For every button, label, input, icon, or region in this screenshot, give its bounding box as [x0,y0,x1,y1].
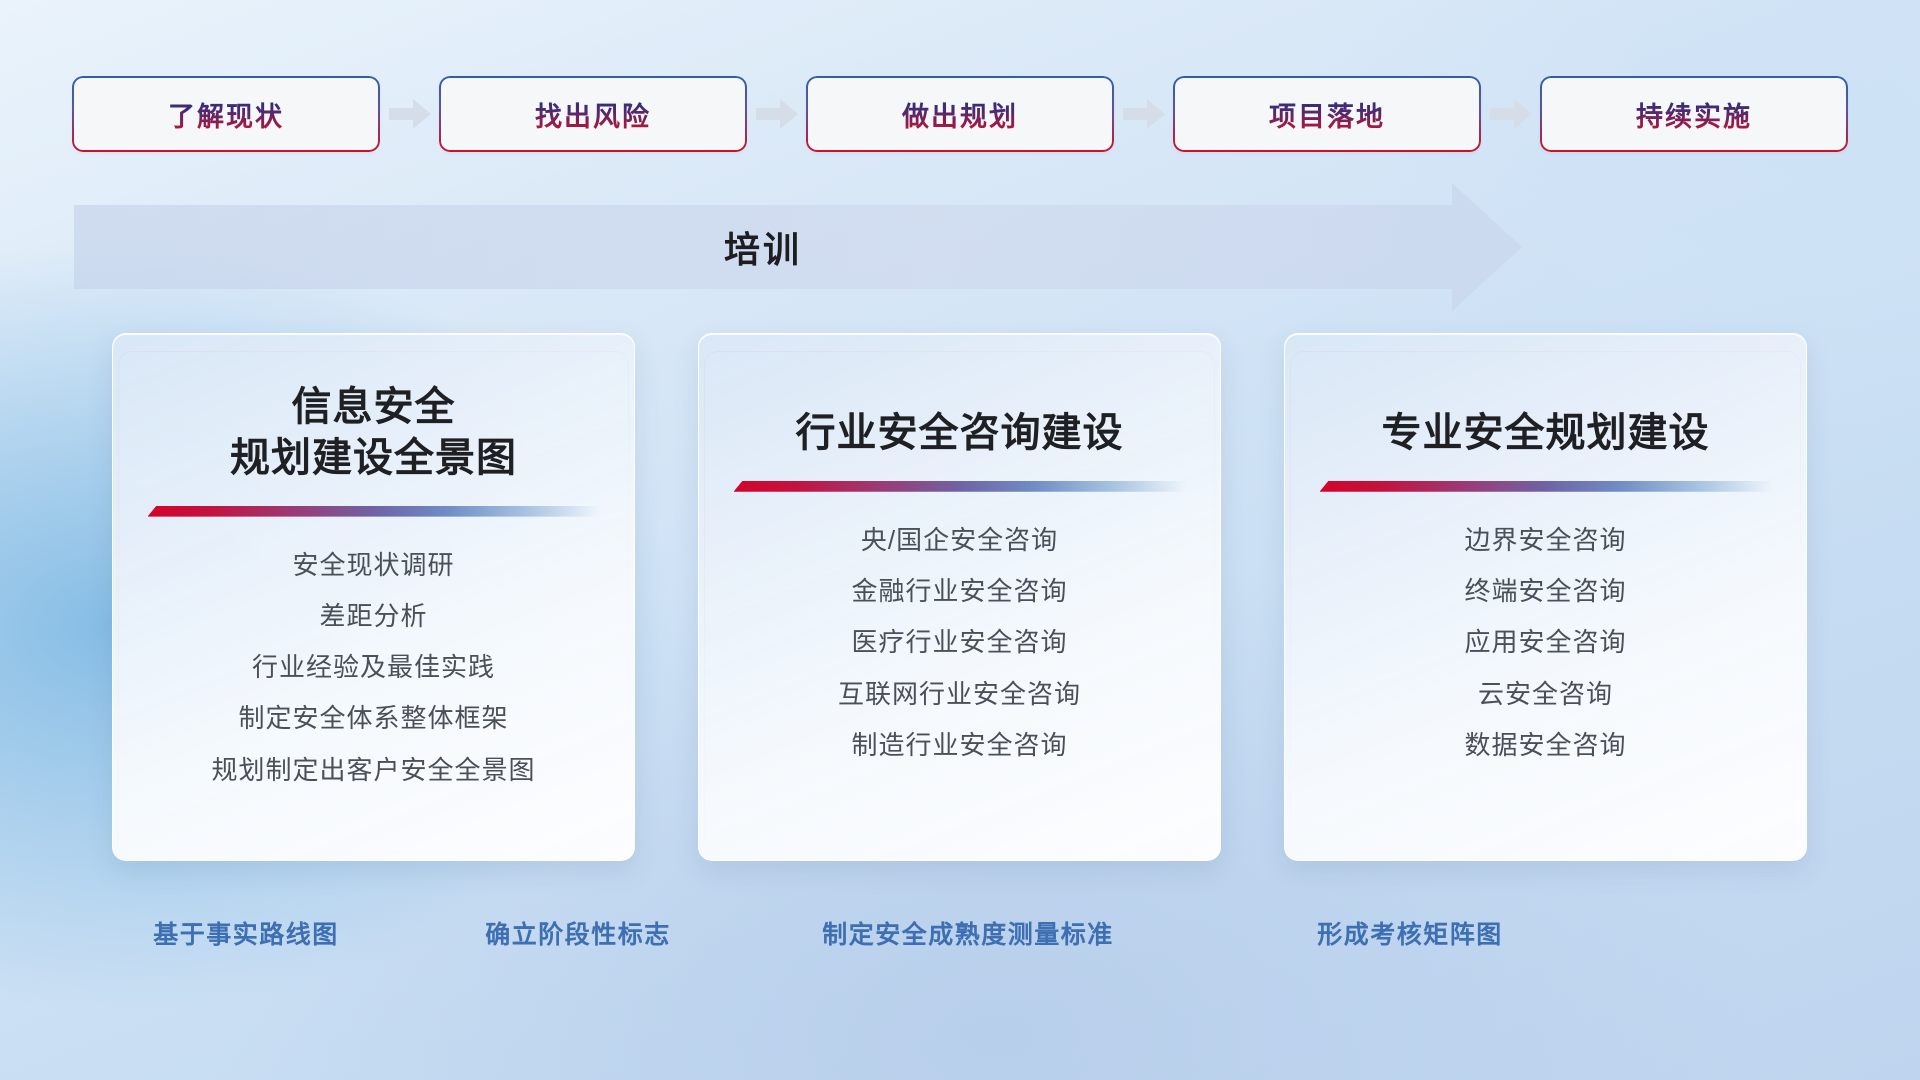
card-divider [734,481,1186,492]
footer-label-1: 基于事实路线图 [153,915,339,951]
card-divider-row [143,506,604,517]
list-item: 差距分析 [319,596,427,636]
card-row: 信息安全 规划建设全景图 安全现状调研 差距分析 行业经验及最佳实践 制定安全体… [112,333,1808,873]
list-item: 终端安全咨询 [1464,571,1626,611]
slide-canvas: 了解现状 找出风险 做出规划 项目落地 [0,0,1920,1080]
step-chip-3[interactable]: 做出规划 [808,78,1112,150]
list-item: 金融行业安全咨询 [851,571,1067,611]
step-chip-4[interactable]: 项目落地 [1175,78,1479,150]
list-item: 制定安全体系整体框架 [238,698,508,738]
arrow-right-icon [1479,78,1542,150]
footer-label-2: 确立阶段性标志 [485,915,671,951]
card-list: 央/国企安全咨询 金融行业安全咨询 医疗行业安全咨询 互联网行业安全咨询 制造行… [729,496,1190,834]
card-wrap-2: 行业安全咨询建设 央/国企安全咨询 金融行业安全咨询 医疗行业安全咨询 互联网行… [698,333,1221,873]
card-1[interactable]: 信息安全 规划建设全景图 安全现状调研 差距分析 行业经验及最佳实践 制定安全体… [112,333,635,861]
step-chip-label: 了解现状 [168,95,284,134]
list-item: 云安全咨询 [1478,674,1613,714]
card-title: 信息安全 规划建设全景图 [143,382,604,484]
footer-label-row: 基于事实路线图 确立阶段性标志 制定安全成熟度测量标准 形成考核矩阵图 [0,915,1920,965]
list-item: 安全现状调研 [292,545,454,585]
step-chip-1[interactable]: 了解现状 [74,78,378,150]
step-chip-label: 做出规划 [902,95,1018,134]
banner-label: 培训 [74,205,1522,289]
card-divider-row [1315,481,1776,492]
step-chip-5[interactable]: 持续实施 [1542,78,1846,150]
list-item: 制造行业安全咨询 [851,725,1067,765]
list-item: 互联网行业安全咨询 [838,674,1081,714]
footer-label-3: 制定安全成熟度测量标准 [822,915,1114,951]
card-divider [1320,481,1772,492]
arrow-right-icon [745,78,808,150]
list-item: 医疗行业安全咨询 [851,622,1067,662]
step-chip-label: 项目落地 [1269,95,1385,134]
card-wrap-3: 专业安全规划建设 边界安全咨询 终端安全咨询 应用安全咨询 云安全咨询 数据安全… [1284,333,1807,873]
arrow-right-icon [378,78,441,150]
list-item: 边界安全咨询 [1464,520,1626,560]
step-chip-label: 持续实施 [1636,95,1752,134]
card-title: 行业安全咨询建设 [729,382,1190,459]
footer-label-4: 形成考核矩阵图 [1317,915,1503,951]
card-2[interactable]: 行业安全咨询建设 央/国企安全咨询 金融行业安全咨询 医疗行业安全咨询 互联网行… [698,333,1221,861]
card-list: 边界安全咨询 终端安全咨询 应用安全咨询 云安全咨询 数据安全咨询 [1315,496,1776,834]
card-divider [148,506,600,517]
list-item: 应用安全咨询 [1464,622,1626,662]
training-banner: 培训 [74,205,1522,289]
card-title: 专业安全规划建设 [1315,382,1776,459]
arrow-right-icon [1112,78,1175,150]
card-list: 安全现状调研 差距分析 行业经验及最佳实践 制定安全体系整体框架 规划制定出客户… [143,521,604,834]
step-chip-label: 找出风险 [535,95,651,134]
list-item: 行业经验及最佳实践 [252,647,495,687]
step-chip-2[interactable]: 找出风险 [441,78,745,150]
card-wrap-1: 信息安全 规划建设全景图 安全现状调研 差距分析 行业经验及最佳实践 制定安全体… [112,333,635,873]
list-item: 央/国企安全咨询 [861,520,1058,560]
list-item: 数据安全咨询 [1464,725,1626,765]
list-item: 规划制定出客户安全全景图 [211,750,535,790]
card-3[interactable]: 专业安全规划建设 边界安全咨询 终端安全咨询 应用安全咨询 云安全咨询 数据安全… [1284,333,1807,861]
card-divider-row [729,481,1190,492]
process-steps: 了解现状 找出风险 做出规划 项目落地 [74,78,1846,150]
